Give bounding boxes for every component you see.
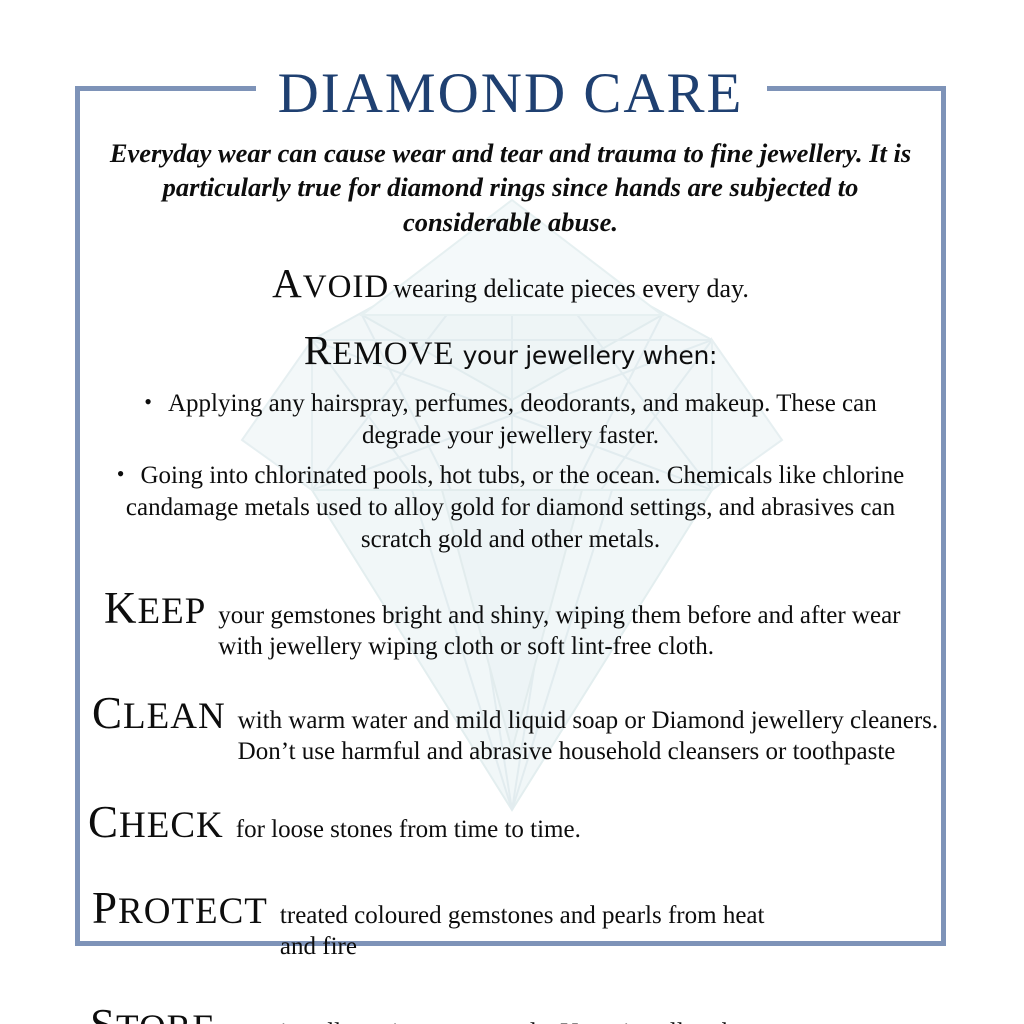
check-keyword: CHECK bbox=[88, 796, 236, 848]
avoid-line: AVOID wearing delicate pieces every day. bbox=[80, 261, 941, 306]
store-text: your jewellery pieces separately. Use a … bbox=[228, 1017, 868, 1024]
check-text: for loose stones from time to time. bbox=[236, 814, 941, 846]
tip-row-store: STORE your jewellery pieces separately. … bbox=[80, 999, 941, 1024]
clean-keyword: CLEAN bbox=[92, 687, 238, 739]
clean-text: with warm water and mild liquid soap or … bbox=[238, 705, 941, 768]
bullet-text: Going into chlorinated pools, hot tubs, … bbox=[126, 462, 904, 553]
frame-right-border bbox=[941, 86, 946, 946]
remove-text: your jewellery when: bbox=[463, 341, 718, 370]
list-item: •Applying any hairspray, perfumes, deodo… bbox=[126, 388, 895, 452]
tip-row-keep: KEEP your gemstones bright and shiny, wi… bbox=[80, 582, 941, 663]
bullet-text: Applying any hairspray, perfumes, deodor… bbox=[168, 390, 877, 449]
list-item: •Going into chlorinated pools, hot tubs,… bbox=[100, 460, 921, 556]
remove-bullet-list: •Applying any hairspray, perfumes, deodo… bbox=[80, 388, 941, 556]
page-title: DIAMOND CARE bbox=[80, 60, 941, 122]
diamond-care-poster: DIAMOND CARE Everyday wear can cause wea… bbox=[0, 0, 1024, 1024]
tip-row-clean: CLEAN with warm water and mild liquid so… bbox=[80, 687, 941, 768]
tip-row-protect: PROTECT treated coloured gemstones and p… bbox=[80, 882, 941, 963]
keep-keyword: KEEP bbox=[104, 582, 218, 634]
protect-keyword: PROTECT bbox=[92, 882, 280, 934]
avoid-text: wearing delicate pieces every day. bbox=[393, 274, 749, 303]
bullet-marker: • bbox=[117, 461, 141, 486]
remove-line: REMOVE your jewellery when: bbox=[80, 328, 941, 373]
bullet-marker: • bbox=[144, 389, 168, 414]
avoid-keyword: AVOID bbox=[272, 269, 389, 305]
keep-text: your gemstones bright and shiny, wiping … bbox=[218, 600, 941, 663]
store-keyword: STORE bbox=[90, 999, 228, 1024]
tip-row-check: CHECK for loose stones from time to time… bbox=[80, 796, 941, 848]
poster-content: DIAMOND CARE Everyday wear can cause wea… bbox=[80, 60, 941, 1024]
remove-keyword: REMOVE bbox=[304, 336, 455, 372]
protect-text: treated coloured gemstones and pearls fr… bbox=[280, 900, 800, 963]
intro-paragraph: Everyday wear can cause wear and tear an… bbox=[102, 136, 919, 239]
